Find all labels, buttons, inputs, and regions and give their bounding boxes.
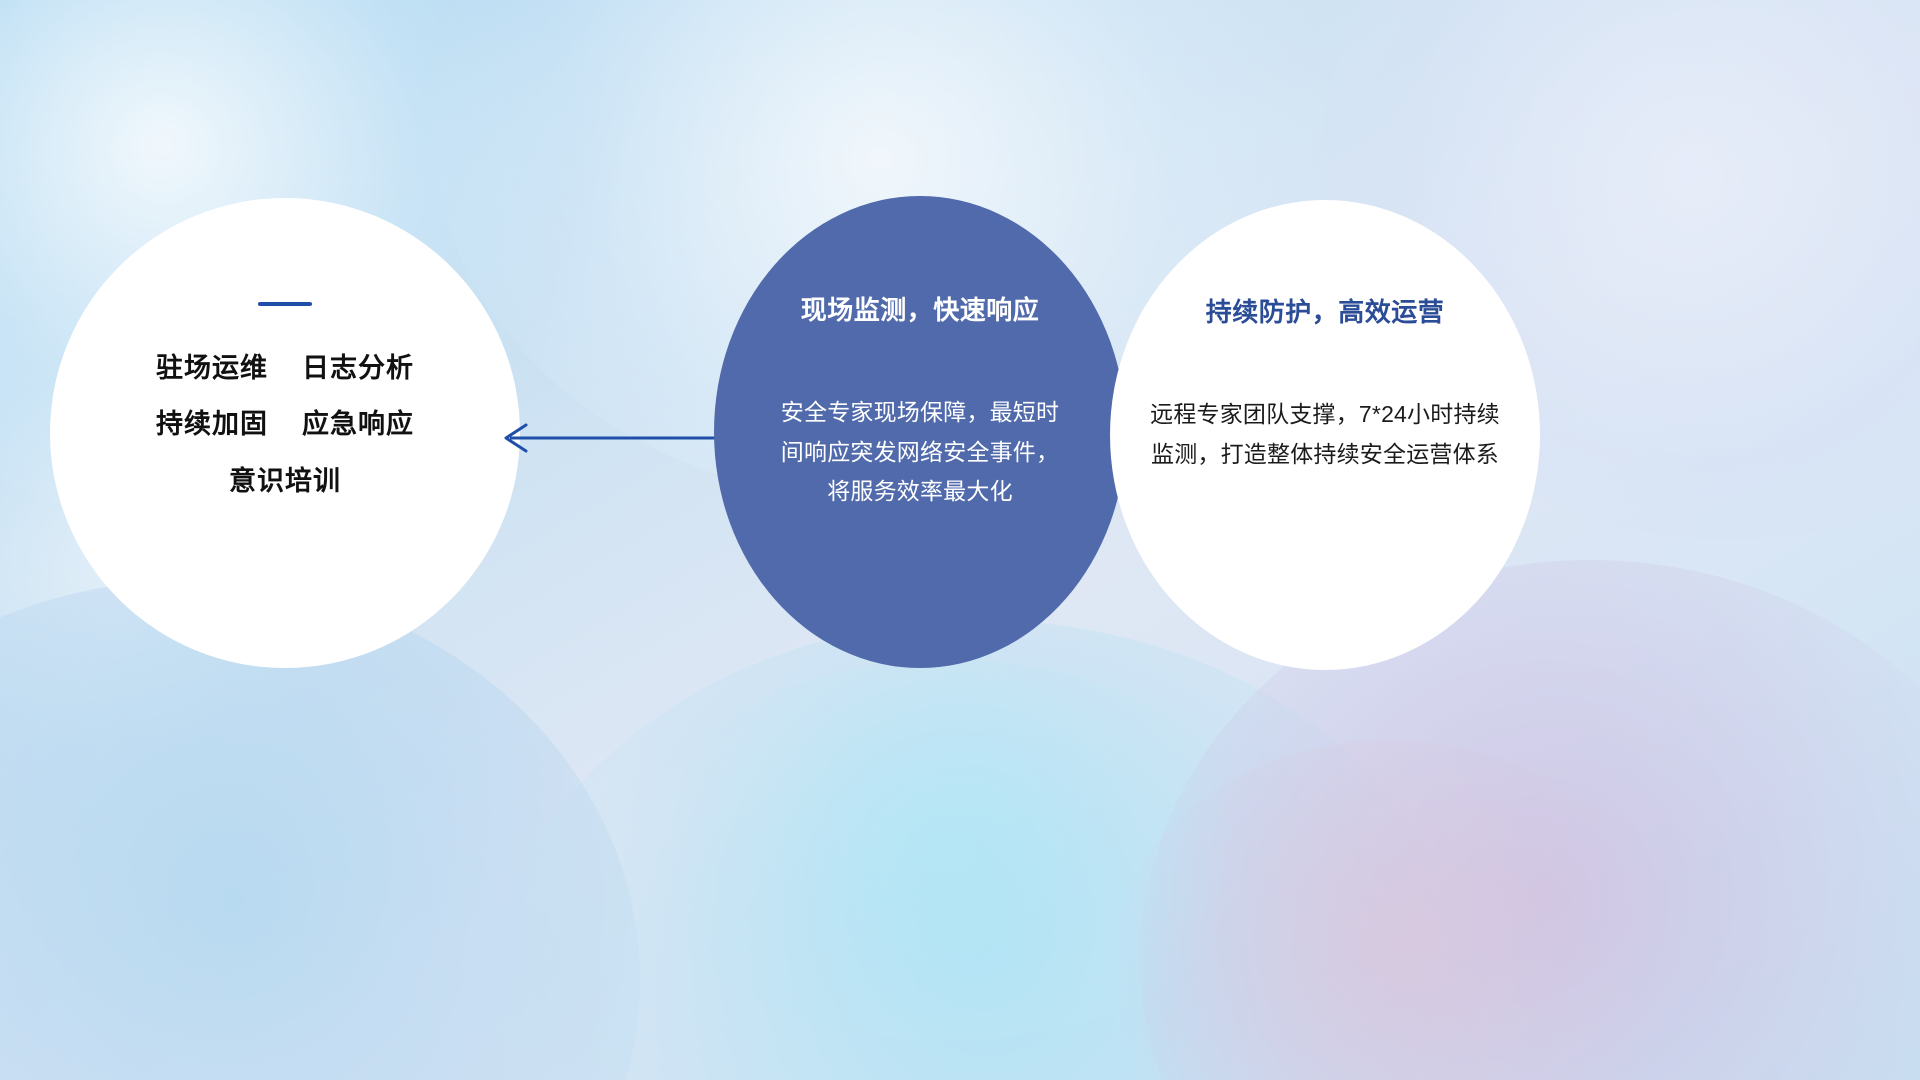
continuous-protection-body: 远程专家团队支撑，7*24小时持续监测，打造整体持续安全运营体系	[1145, 395, 1505, 474]
slide-canvas: 驻场运维 日志分析 持续加固 应急响应 意识培训 现场监测，快速响应 安全专家现…	[0, 0, 1920, 1080]
capabilities-circle[interactable]: 驻场运维 日志分析 持续加固 应急响应 意识培训	[50, 198, 520, 668]
horizontal-dash-icon	[258, 302, 312, 306]
left-pointing-arrow-icon	[486, 408, 746, 468]
capability-line-2: 持续加固 应急响应	[156, 410, 414, 438]
continuous-protection-circle[interactable]: 持续防护，高效运营 远程专家团队支撑，7*24小时持续监测，打造整体持续安全运营…	[1110, 200, 1540, 670]
onsite-monitoring-body: 安全专家现场保障，最短时间响应突发网络安全事件，将服务效率最大化	[770, 393, 1070, 512]
background-bloom-pink	[1110, 740, 1670, 1080]
background-bloom-cyan	[640, 660, 1260, 1040]
onsite-monitoring-circle[interactable]: 现场监测，快速响应 安全专家现场保障，最短时间响应突发网络安全事件，将服务效率最…	[714, 196, 1126, 668]
background-bloom-bottom-center	[480, 620, 1480, 1080]
continuous-protection-heading: 持续防护，高效运营	[1206, 292, 1445, 329]
capability-line-3: 意识培训	[229, 467, 341, 495]
onsite-monitoring-heading: 现场监测，快速响应	[801, 290, 1040, 327]
capability-line-1: 驻场运维 日志分析	[156, 354, 414, 382]
